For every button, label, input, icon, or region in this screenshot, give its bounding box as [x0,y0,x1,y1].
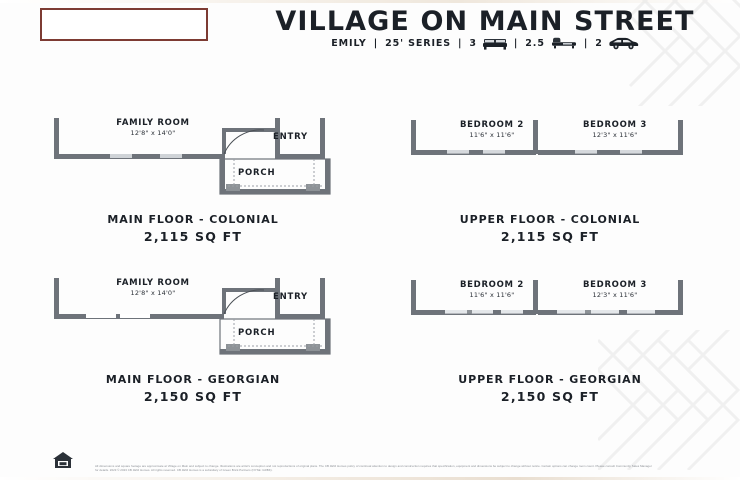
room-label-bedroom-3: BEDROOM 3 12'3" x 11'6" [555,120,675,139]
page-header: VILLAGE ON MAIN STREET EMILY | 25' SERIE… [0,0,740,70]
floorplan-page: VILLAGE ON MAIN STREET EMILY | 25' SERIE… [0,0,740,480]
tag-porch: PORCH [238,168,275,178]
caption-upper-floor-georgian: UPPER FLOOR - GEORGIAN 2,150 SQ FT [405,373,695,404]
equal-housing-opportunity-icon [52,451,74,470]
plan-main-floor-georgian: FAMILY ROOM 12'8" x 14'0" ENTRY PORCH MA… [48,272,338,404]
page-title: VILLAGE ON MAIN STREET [235,6,735,37]
plan-main-floor-colonial: FAMILY ROOM 12'8" x 14'0" ENTRY PORCH MA… [48,112,338,244]
plan-upper-floor-colonial: BEDROOM 2 11'6" x 11'6" BEDROOM 3 12'3" … [405,112,695,244]
bathroom-count: 2.5 [525,38,545,49]
caption-main-floor-colonial: MAIN FLOOR - COLONIAL 2,115 SQ FT [48,213,338,244]
builder-logo-box [40,8,208,41]
plan-summary-bar: EMILY | 25' SERIES | 3 | 2.5 [235,37,735,50]
bed-icon [483,37,507,50]
plan-upper-floor-georgian: BEDROOM 2 11'6" x 11'6" BEDROOM 3 12'3" … [405,272,695,404]
separator: | [458,38,462,49]
separator: | [374,38,378,49]
tag-entry: ENTRY [273,132,308,142]
tag-entry: ENTRY [273,292,308,302]
bedroom-count: 3 [469,38,477,49]
car-icon [609,37,639,50]
room-label-family-room: FAMILY ROOM 12'8" x 14'0" [98,278,208,297]
legal-disclaimer: All dimensions and square footage are ap… [95,464,655,472]
separator: | [514,38,518,49]
tag-porch: PORCH [238,328,275,338]
caption-upper-floor-colonial: UPPER FLOOR - COLONIAL 2,115 SQ FT [405,213,695,244]
page-footer: All dimensions and square footage are ap… [0,440,740,480]
garage-count: 2 [595,38,603,49]
room-label-family-room: FAMILY ROOM 12'8" x 14'0" [98,118,208,137]
room-label-bedroom-2: BEDROOM 2 11'6" x 11'6" [437,280,547,299]
series-label: 25' SERIES [385,38,451,49]
room-label-bedroom-2: BEDROOM 2 11'6" x 11'6" [437,120,547,139]
bathtub-icon [551,37,577,50]
plan-name-label: EMILY [331,38,366,49]
caption-main-floor-georgian: MAIN FLOOR - GEORGIAN 2,150 SQ FT [48,373,338,404]
separator: | [584,38,588,49]
room-label-bedroom-3: BEDROOM 3 12'3" x 11'6" [555,280,675,299]
